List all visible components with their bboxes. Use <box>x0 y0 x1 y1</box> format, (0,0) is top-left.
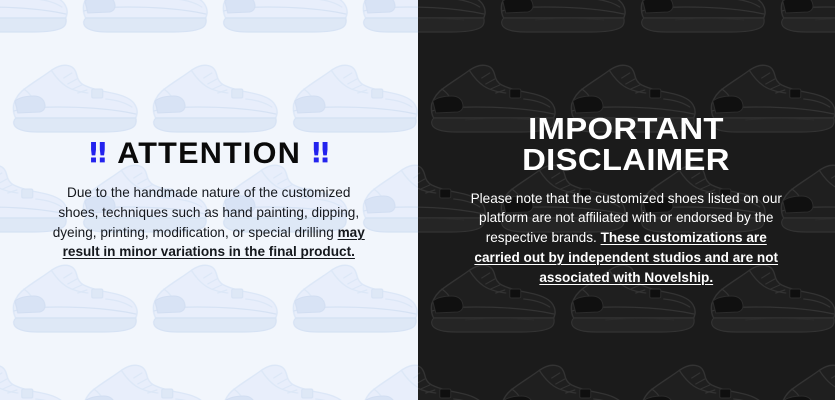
attention-panel: ‼ ATTENTION ‼ Due to the handmade nature… <box>0 0 418 400</box>
attention-content: ‼ ATTENTION ‼ Due to the handmade nature… <box>0 0 418 400</box>
disclaimer-heading-line1: IMPORTANT <box>522 113 730 144</box>
attention-body: Due to the handmade nature of the custom… <box>49 183 369 262</box>
disclaimer-body: Please note that the customized shoes li… <box>461 189 791 288</box>
customization-notice-banner: ‼ ATTENTION ‼ Due to the handmade nature… <box>0 0 835 400</box>
disclaimer-panel: IMPORTANT DISCLAIMER Please note that th… <box>418 0 835 400</box>
disclaimer-heading-line2: DISCLAIMER <box>522 144 730 175</box>
double-exclamation-icon-left: ‼ <box>89 139 106 167</box>
attention-heading-word: ATTENTION <box>117 138 301 170</box>
attention-heading: ‼ ATTENTION ‼ <box>89 138 328 170</box>
disclaimer-content: IMPORTANT DISCLAIMER Please note that th… <box>418 0 835 400</box>
disclaimer-heading: IMPORTANT DISCLAIMER <box>522 113 730 175</box>
attention-body-normal: Due to the handmade nature of the custom… <box>53 185 359 239</box>
double-exclamation-icon-right: ‼ <box>312 139 329 167</box>
